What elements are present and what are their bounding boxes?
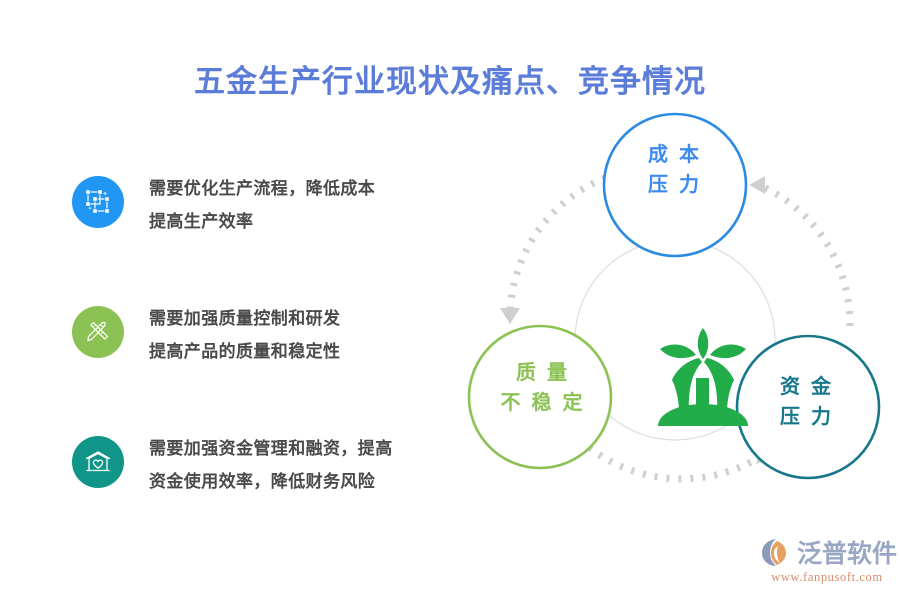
list-item: 需要加强质量控制和研发 提高产品的质量和稳定性 <box>72 302 472 380</box>
sprout-icon <box>658 328 748 426</box>
list-item: 需要加强资金管理和融资，提高 资金使用效率，降低财务风险 <box>72 432 472 510</box>
pain-point-list: 需要优化生产流程，降低成本 提高生产效率 需要加强质量控制和研发 提高产品的质量… <box>72 172 472 562</box>
node-circle-cost-pressure[interactable] <box>604 114 746 256</box>
list-item-text: 需要加强质量控制和研发 提高产品的质量和稳定性 <box>149 302 340 368</box>
connector-arc-cost-to-quality <box>510 178 605 315</box>
list-item-text: 需要加强资金管理和融资，提高 资金使用效率，降低财务风险 <box>149 432 393 498</box>
node-circle-capital-pressure[interactable] <box>737 336 879 478</box>
list-item-line1: 需要加强资金管理和融资，提高 <box>149 439 393 458</box>
brand-name: 泛普软件 <box>797 534 897 570</box>
pencil-ruler-icon <box>72 306 124 358</box>
list-item-text: 需要优化生产流程，降低成本 提高生产效率 <box>149 172 375 238</box>
house-heart-icon <box>72 436 124 488</box>
list-item-line2: 提高生产效率 <box>149 205 375 238</box>
list-item: 需要优化生产流程，降低成本 提高生产效率 <box>72 172 472 250</box>
list-item-line1: 需要加强质量控制和研发 <box>149 309 340 328</box>
node-circle-quality-instability[interactable] <box>469 326 611 468</box>
brand-url: www.fanpusoft.com <box>762 570 892 585</box>
cycle-diagram-svg <box>460 100 900 520</box>
connector-arrow-quality <box>500 308 520 324</box>
slide-canvas: 五金生产行业现状及痛点、竞争情况 <box>0 0 900 600</box>
brand-logo[interactable]: 泛普软件 www.fanpusoft.com <box>762 535 892 587</box>
connector-arc-quality-to-capital <box>580 440 760 479</box>
fanpu-swoosh-logo-icon <box>762 537 794 567</box>
connector-arrow-cost <box>749 176 765 194</box>
list-item-line1: 需要优化生产流程，降低成本 <box>149 179 375 198</box>
list-item-line2: 资金使用效率，降低财务风险 <box>149 465 393 498</box>
page-title: 五金生产行业现状及痛点、竞争情况 <box>0 56 900 101</box>
brand-logo-row: 泛普软件 <box>762 535 892 569</box>
transform-nodes-icon <box>72 176 124 228</box>
pain-point-cycle-diagram: 成 本 压 力 质 量 不 稳 定 资 金 压 力 <box>460 100 900 520</box>
connector-arc-capital-to-cost <box>757 184 850 326</box>
list-item-line2: 提高产品的质量和稳定性 <box>149 335 340 368</box>
